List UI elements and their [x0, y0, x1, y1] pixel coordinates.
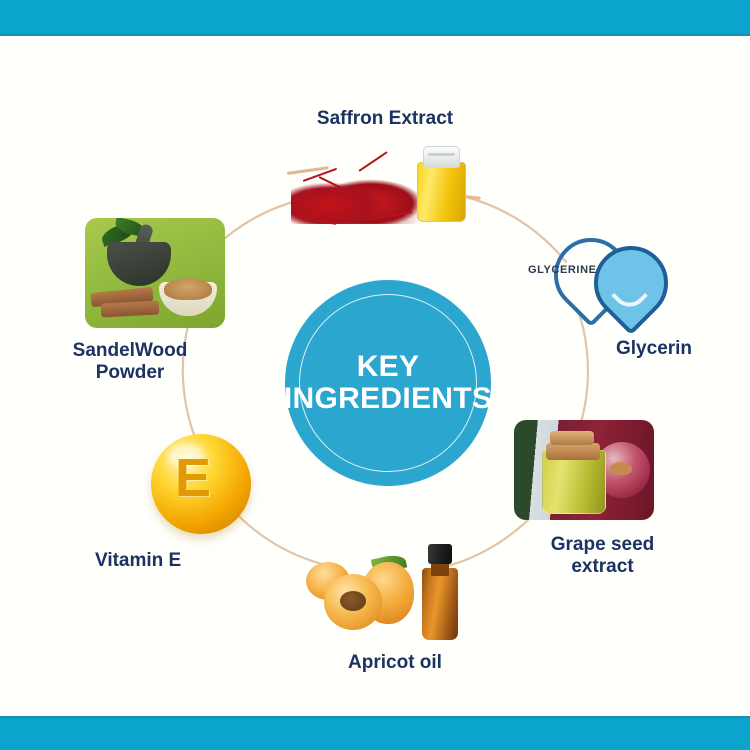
node-glycerin[interactable]: GLYCERINE Glycerin	[520, 212, 740, 360]
hub-title: KEY INGREDIENTS	[284, 351, 492, 416]
hub-title-line2: INGREDIENTS	[284, 383, 492, 415]
bottom-brand-bar	[0, 716, 750, 750]
node-vitamin-e[interactable]: E Vitamin E	[95, 428, 315, 572]
sandalwood-mortar-pestle-powder-image	[85, 218, 225, 328]
node-apricot-oil-label: Apricot oil	[280, 652, 510, 674]
vitamin-e-letter: E	[143, 428, 243, 528]
node-grape-seed[interactable]: Grape seed extract	[500, 420, 705, 579]
grape-seed-oil-jar-image	[514, 420, 654, 520]
key-ingredients-infographic: KEY INGREDIENTS Saffron Extract GLYCERIN…	[0, 0, 750, 750]
node-glycerin-label: Glycerin	[616, 338, 740, 360]
glycerin-badge-text: GLYCERINE	[528, 264, 597, 276]
top-brand-bar	[0, 0, 750, 36]
apricot-fruit-and-oil-bottle-image	[300, 540, 490, 642]
center-hub: KEY INGREDIENTS	[285, 280, 491, 486]
node-sandalwood-powder[interactable]: SandelWood Powder	[25, 218, 235, 385]
node-saffron[interactable]: Saffron Extract	[245, 108, 525, 232]
hub-title-line1: KEY	[357, 350, 420, 383]
vitamin-e-golden-capsule-icon: E	[143, 428, 263, 538]
node-grape-seed-label: Grape seed extract	[500, 534, 705, 579]
node-saffron-label: Saffron Extract	[245, 108, 525, 130]
node-vitamin-e-label: Vitamin E	[95, 550, 315, 572]
glycerin-water-drops-icon: GLYCERINE	[542, 212, 692, 334]
node-sandalwood-powder-label: SandelWood Powder	[25, 340, 235, 385]
saffron-threads-and-oil-jar-image	[285, 136, 485, 232]
